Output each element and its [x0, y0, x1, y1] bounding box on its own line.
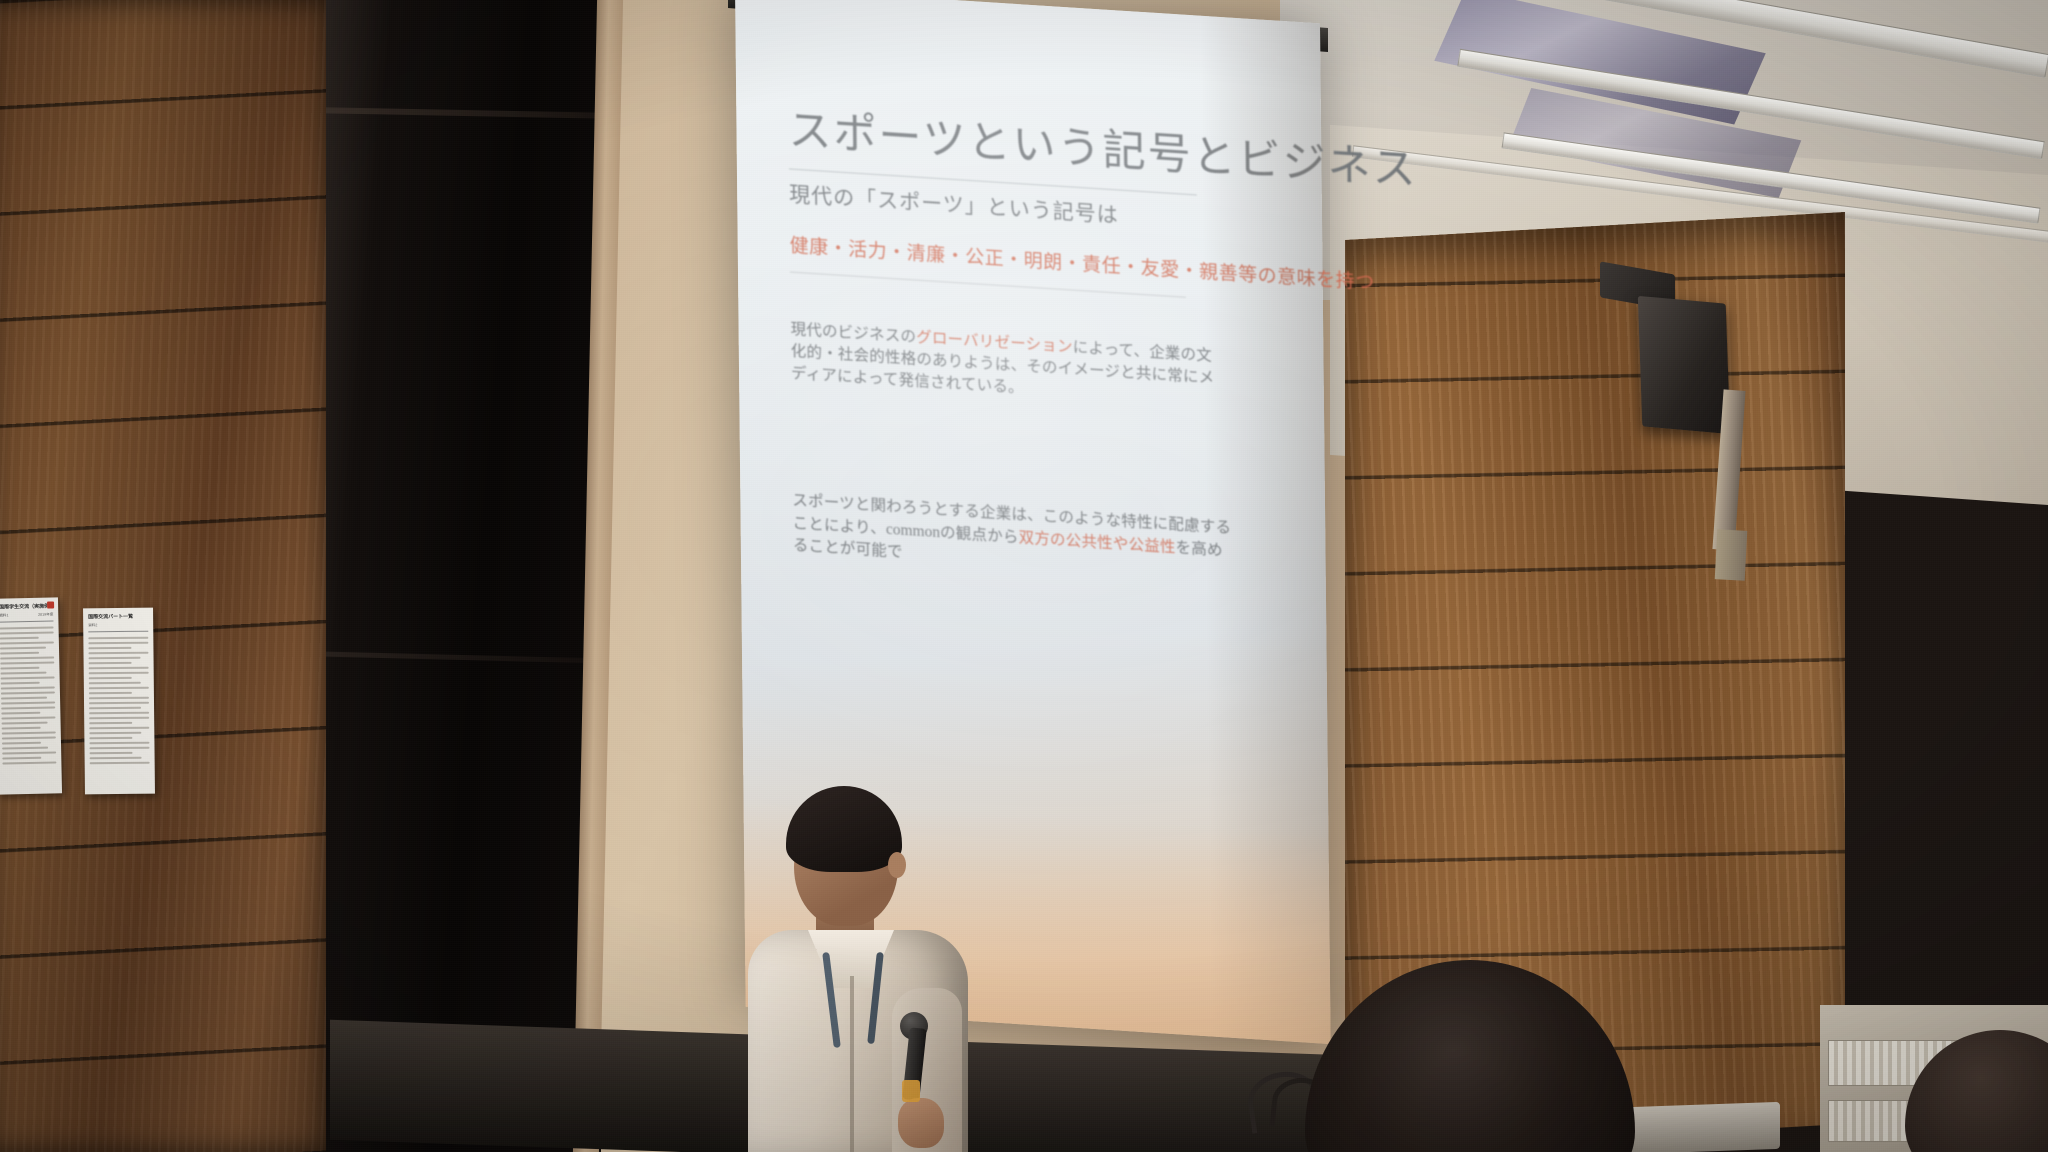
poster-left-meta-right: 2019年度 [38, 612, 53, 617]
wall-poster-right: 国際交流パート一覧 資料2 [83, 608, 155, 795]
highlighted-phrase: 双方の公共性や公益性 [1019, 529, 1176, 556]
poster-tag-icon [47, 601, 54, 608]
wall-speaker [1638, 296, 1730, 434]
slide-content: スポーツという記号とビジネス 現代の「スポーツ」という記号は 健康・活力・清廉・… [788, 107, 1266, 858]
paragraph-1-text: 現代のビジネスのグローバリゼーションによって、企業の文化的・社会的性格のありよう… [790, 321, 1214, 397]
poster-right-meta: 資料2 [83, 622, 153, 628]
poster-left-body [0, 624, 62, 769]
presenter-shirt-placket [850, 976, 854, 1152]
slide-keywords: 健康・活力・清廉・公正・明朗・責任・友愛・親善等の意味を持つ [790, 231, 1260, 288]
column-panel-seam-lower [326, 652, 601, 664]
wall-poster-left: 国際学生交流（実施例） 資料1 2019年度 [0, 597, 62, 794]
latin-term: common [886, 520, 940, 540]
poster-left-meta-left: 資料1 [0, 613, 9, 618]
paragraph-2-text: スポーツと関わろうとする企業は、このような特性に配慮することにより、common… [792, 492, 1231, 561]
poster-left-divider [0, 620, 53, 622]
poster-right-body [83, 634, 154, 769]
poster-right-title: 国際交流パート一覧 [83, 608, 153, 623]
microphone-badge [902, 1080, 920, 1102]
poster-right-divider [88, 630, 148, 632]
presenter [742, 780, 972, 1152]
dark-column [326, 0, 601, 1152]
slide-paragraph-2: スポーツと関わろうとする企業は、このような特性に配慮することにより、common… [792, 490, 1233, 586]
highlighted-phrase: グローバリゼーション [916, 329, 1073, 356]
presenter-hair [786, 786, 902, 872]
poster-left-meta: 資料1 2019年度 [0, 612, 58, 618]
slide-paragraph-1: 現代のビジネスのグローバリゼーションによって、企業の文化的・社会的性格のありよう… [790, 319, 1223, 413]
poster-right-meta-left: 資料2 [88, 623, 97, 628]
slide-subtitle: 現代の「スポーツ」という記号は [789, 179, 1259, 239]
wall-plate [1715, 529, 1748, 581]
presenter-ear [888, 852, 906, 878]
wood-wall-left [0, 0, 340, 1152]
photo-scene: スポーツという記号とビジネス 現代の「スポーツ」という記号は 健康・活力・清廉・… [0, 0, 2048, 1152]
presenter-hand [898, 1098, 944, 1148]
column-panel-seam [326, 107, 601, 118]
